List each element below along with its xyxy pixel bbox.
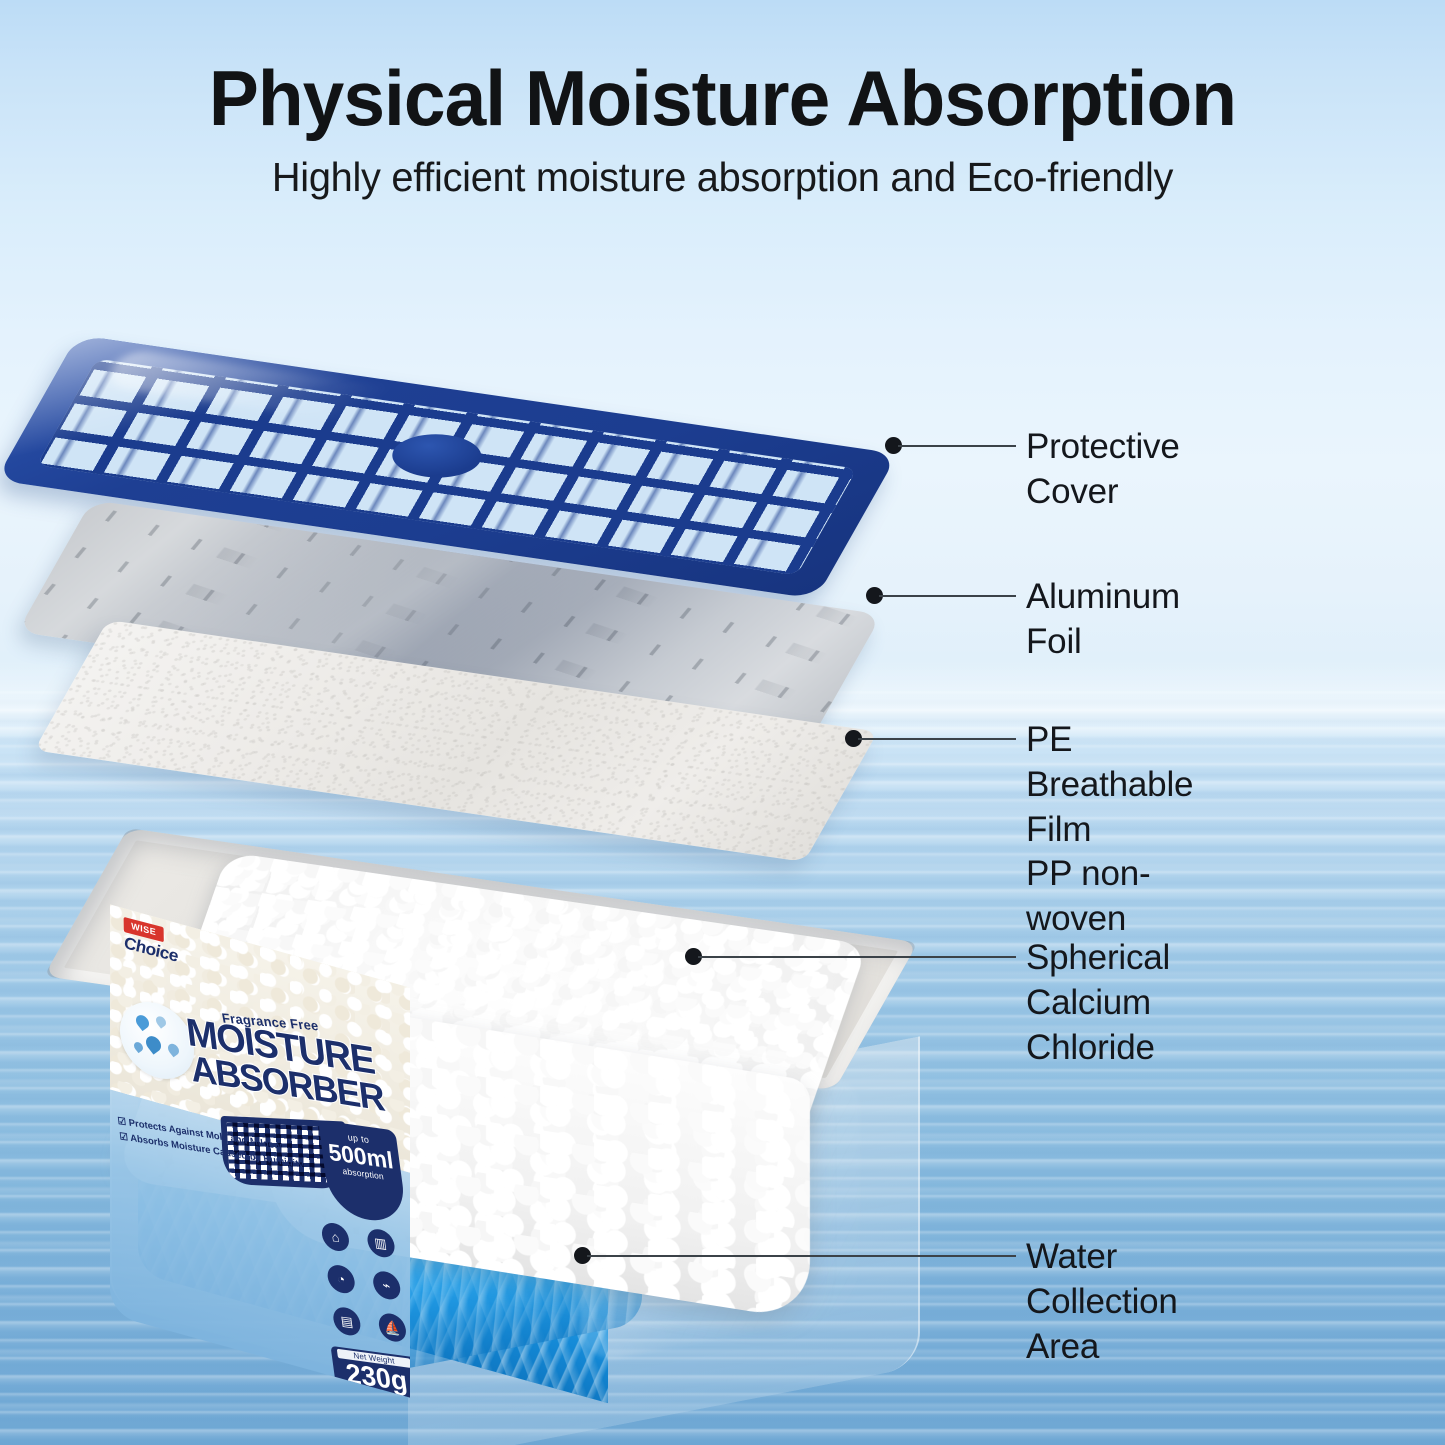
callout-label-water-collection: Water Collection Area — [1026, 1235, 1178, 1369]
callout-line-calcium-chloride — [698, 956, 1016, 958]
package-room-icons: ⌂ ▥ ◔ ⌁ ▤ ⛵ — [320, 1221, 410, 1354]
wardrobe-icon: ▥ — [365, 1227, 395, 1258]
film-nonwoven-texture — [34, 620, 878, 862]
callout-line-pe-breathable-film — [858, 738, 1016, 740]
page-title: Physical Moisture Absorption — [29, 58, 1416, 140]
bathroom-icon: ◔ — [326, 1263, 356, 1294]
callout-line-protective-cover — [898, 445, 1016, 447]
header-block: Physical Moisture Absorption Highly effi… — [0, 0, 1445, 201]
net-weight-badge: Net Weight 230g — [331, 1346, 410, 1398]
pe-breathable-film-layer — [108, 620, 928, 850]
callout-label-protective-cover: Protective Cover — [1026, 425, 1180, 515]
film-sheet — [34, 620, 878, 862]
callout-line-water-collection — [587, 1255, 1016, 1257]
boat-icon: ⛵ — [377, 1312, 407, 1343]
callout-label-pe-breathable-film: PE Breathable Film PP non-woven — [1026, 718, 1193, 942]
page-subtitle: Highly efficient moisture absorption and… — [22, 154, 1424, 201]
product-package-label: WISE Choice Fragrance Free MOISTURE ABSO… — [110, 904, 410, 1397]
home-icon: ⌂ — [320, 1221, 350, 1252]
basement-icon: ▤ — [332, 1306, 362, 1337]
callout-label-aluminum-foil: Aluminum Foil — [1026, 575, 1180, 665]
kitchen-icon: ⌁ — [371, 1270, 401, 1301]
infographic-scene: Physical Moisture Absorption Highly effi… — [0, 0, 1445, 1445]
callout-label-calcium-chloride: Spherical Calcium Chloride — [1026, 936, 1170, 1070]
callout-line-aluminum-foil — [879, 595, 1016, 597]
container-layer: WISE Choice Fragrance Free MOISTURE ABSO… — [110, 828, 930, 1428]
